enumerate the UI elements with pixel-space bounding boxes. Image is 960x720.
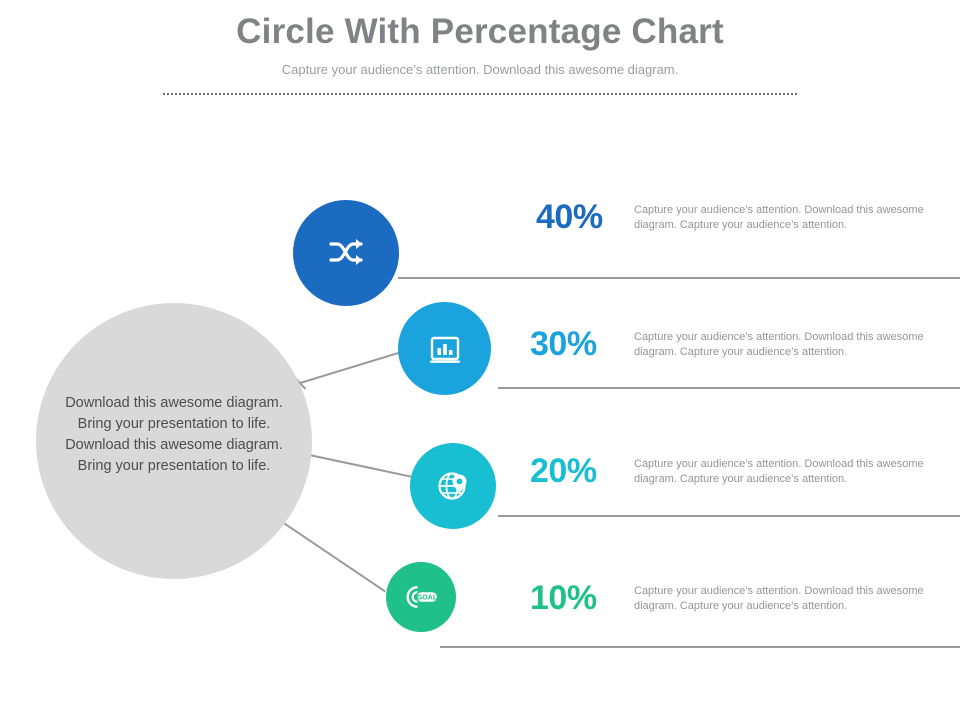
header-divider	[163, 93, 797, 97]
goal-target-icon: GOAL	[404, 584, 438, 610]
bubble-30[interactable]	[398, 302, 491, 395]
percent-label-20: 20%	[530, 452, 597, 491]
row-line-3	[498, 515, 960, 517]
bubble-40[interactable]	[293, 200, 399, 306]
slide-canvas: Circle With Percentage Chart Capture you…	[0, 0, 960, 720]
connector-line-4	[277, 518, 386, 592]
connector-line-2	[300, 350, 406, 384]
page-title: Circle With Percentage Chart	[0, 12, 960, 52]
description-30: Capture your audience’s attention. Downl…	[634, 330, 934, 360]
percent-label-10: 10%	[530, 579, 597, 618]
percent-label-40: 40%	[536, 198, 603, 237]
globe-location-icon	[435, 468, 471, 504]
row-line-2	[498, 387, 960, 389]
bubble-20[interactable]	[410, 443, 496, 529]
page-subtitle: Capture your audience’s attention. Downl…	[0, 62, 960, 77]
svg-text:GOAL: GOAL	[417, 595, 438, 602]
shuffle-icon	[325, 232, 367, 274]
row-line-4	[440, 646, 960, 648]
center-circle-text: Download this awesome diagram. Bring you…	[56, 393, 292, 477]
description-20: Capture your audience’s attention. Downl…	[634, 457, 934, 487]
description-10: Capture your audience’s attention. Downl…	[634, 584, 934, 614]
bubble-10[interactable]: GOAL	[386, 562, 456, 632]
connector-line-3	[300, 452, 418, 479]
description-40: Capture your audience’s attention. Downl…	[634, 203, 934, 233]
percent-label-30: 30%	[530, 325, 597, 364]
bar-chart-icon	[427, 331, 463, 367]
row-line-1	[398, 277, 960, 279]
